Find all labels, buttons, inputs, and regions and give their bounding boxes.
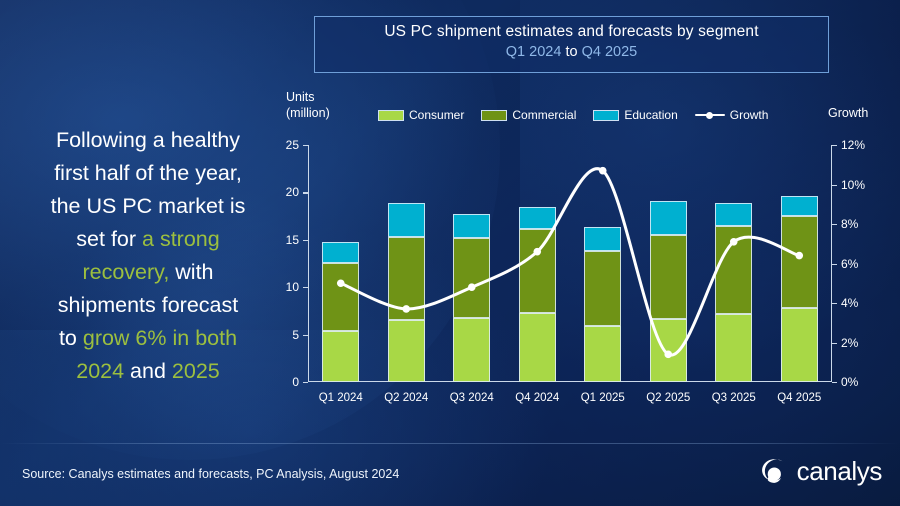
y-axis-tick	[303, 382, 308, 383]
narrative-line-6: shipments forecast	[14, 289, 282, 322]
legend-item-growth[interactable]: Growth	[695, 108, 769, 122]
narrative-line-2: first half of the year,	[14, 157, 282, 190]
canalys-swirl-icon	[758, 455, 790, 487]
x-axis-tick-label: Q2 2024	[384, 392, 428, 404]
narrative-line-7: to grow 6% in both	[14, 322, 282, 355]
y-axis-tick-label: 10	[286, 280, 299, 294]
secondary-y-axis-tick-label: 4%	[841, 296, 858, 310]
legend-swatch-icon	[481, 110, 507, 121]
legend-item-label: Growth	[730, 108, 769, 122]
growth-data-point[interactable]	[795, 252, 803, 260]
growth-data-point[interactable]	[533, 248, 541, 256]
growth-line-series	[308, 145, 832, 382]
growth-data-point[interactable]	[730, 238, 738, 246]
source-note: Source: Canalys estimates and forecasts,…	[22, 467, 399, 481]
secondary-y-axis-tick	[832, 382, 837, 383]
x-axis-tick-label: Q3 2025	[712, 392, 756, 404]
legend-line-marker-icon	[695, 110, 725, 121]
y-axis-title: Units (million)	[286, 89, 366, 121]
subtitle-period-end: Q4 2025	[582, 44, 638, 60]
secondary-y-axis-tick-label: 12%	[841, 138, 865, 152]
legend-swatch-icon	[593, 110, 619, 121]
legend-item-commercial[interactable]: Commercial	[481, 108, 576, 122]
growth-line-path	[341, 169, 800, 356]
secondary-y-axis-tick	[832, 343, 837, 344]
plot-inner: 05101520250%2%4%6%8%10%12%	[308, 145, 832, 382]
subtitle-period-start: Q1 2024	[506, 44, 562, 60]
chart-title-box: US PC shipment estimates and forecasts b…	[314, 16, 829, 73]
chart-title: US PC shipment estimates and forecasts b…	[315, 22, 828, 42]
y-axis-title-line1: Units	[286, 89, 366, 105]
x-axis-tick-label: Q1 2024	[319, 392, 363, 404]
narrative-line-5: recovery, with	[14, 256, 282, 289]
narrative-line-8: 2024 and 2025	[14, 355, 282, 388]
chart-canvas: US PC shipment estimates and forecasts b…	[0, 0, 900, 506]
subtitle-to-word: to	[565, 44, 577, 60]
y-axis-tick-label: 20	[286, 185, 299, 199]
legend-item-label: Consumer	[409, 108, 464, 122]
plot-area: 05101520250%2%4%6%8%10%12%	[308, 145, 832, 382]
legend-item-education[interactable]: Education	[593, 108, 677, 122]
y-axis-tick-label: 0	[292, 375, 299, 389]
secondary-y-axis-tick-label: 10%	[841, 178, 865, 192]
narrative-line-4: set for a strong	[14, 223, 282, 256]
secondary-y-axis-tick	[832, 264, 837, 265]
legend-item-label: Commercial	[512, 108, 576, 122]
secondary-y-axis-tick	[832, 224, 837, 225]
x-axis-tick-label: Q2 2025	[646, 392, 690, 404]
secondary-y-axis-tick-label: 2%	[841, 336, 858, 350]
x-axis-tick-label: Q4 2025	[777, 392, 821, 404]
secondary-y-axis-tick-label: 8%	[841, 217, 858, 231]
footer-divider	[0, 443, 900, 444]
chart-subtitle: Q1 2024 to Q4 2025	[315, 42, 828, 62]
secondary-y-axis-tick-label: 6%	[841, 257, 858, 271]
canalys-wordmark: canalys	[797, 458, 882, 484]
secondary-y-axis-tick	[832, 145, 837, 146]
secondary-y-axis-tick	[832, 303, 837, 304]
legend-item-label: Education	[624, 108, 677, 122]
secondary-y-axis-tick	[832, 185, 837, 186]
narrative-text: Following a healthy first half of the ye…	[14, 124, 282, 388]
narrative-line-1: Following a healthy	[14, 124, 282, 157]
canalys-logo: canalys	[758, 455, 882, 487]
narrative-line-3: the US PC market is	[14, 190, 282, 223]
y-axis-tick-label: 25	[286, 138, 299, 152]
y-axis-tick-label: 15	[286, 233, 299, 247]
growth-data-point[interactable]	[402, 305, 410, 313]
chart-legend: ConsumerCommercialEducationGrowth	[378, 108, 768, 122]
x-axis-tick-label: Q4 2024	[515, 392, 559, 404]
legend-item-consumer[interactable]: Consumer	[378, 108, 464, 122]
secondary-y-axis-title: Growth	[828, 106, 868, 120]
x-axis-labels: Q1 2024Q2 2024Q3 2024Q4 2024Q1 2025Q2 20…	[308, 392, 832, 410]
growth-data-point[interactable]	[664, 351, 672, 359]
x-axis-tick-label: Q1 2025	[581, 392, 625, 404]
growth-data-point[interactable]	[468, 283, 476, 291]
y-axis-tick-label: 5	[292, 328, 299, 342]
y-axis-title-line2: (million)	[286, 105, 366, 121]
secondary-y-axis-tick-label: 0%	[841, 375, 858, 389]
legend-swatch-icon	[378, 110, 404, 121]
growth-data-point[interactable]	[337, 279, 345, 287]
x-axis-tick-label: Q3 2024	[450, 392, 494, 404]
growth-data-point[interactable]	[599, 167, 607, 175]
